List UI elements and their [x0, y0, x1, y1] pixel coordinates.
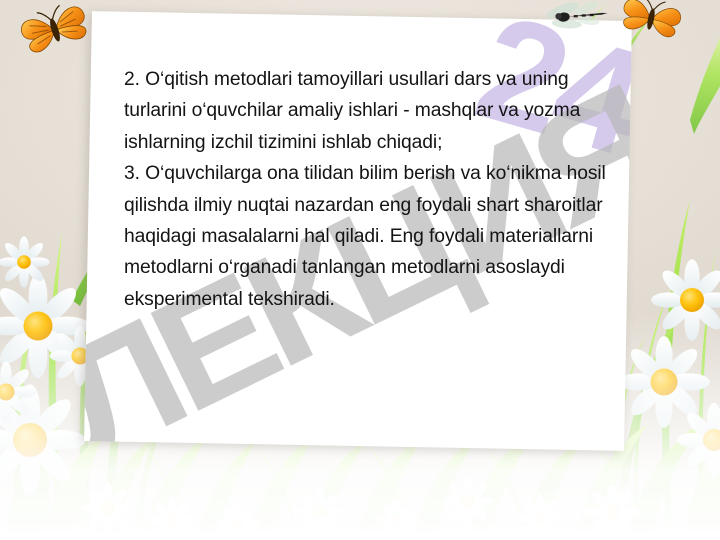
slide-body-text: 2. O‘qitish metodlari tamoyillari usulla…: [124, 64, 616, 315]
slide-content-card: 24 ЛЕКЦИЯ 2. O‘qitish metodlari tamoyill…: [84, 11, 632, 451]
paragraph-item-3: 3. O‘quvchilarga ona tilidan bilim beris…: [124, 158, 616, 315]
butterfly-icon: [18, 2, 92, 58]
paragraph-item-2: 2. O‘qitish metodlari tamoyillari usulla…: [124, 64, 616, 158]
daisy-decoration: [618, 259, 720, 477]
daisy-decoration: [83, 477, 640, 540]
presentation-slide: 24 ЛЕКЦИЯ 2. O‘qitish metodlari tamoyill…: [0, 0, 720, 540]
